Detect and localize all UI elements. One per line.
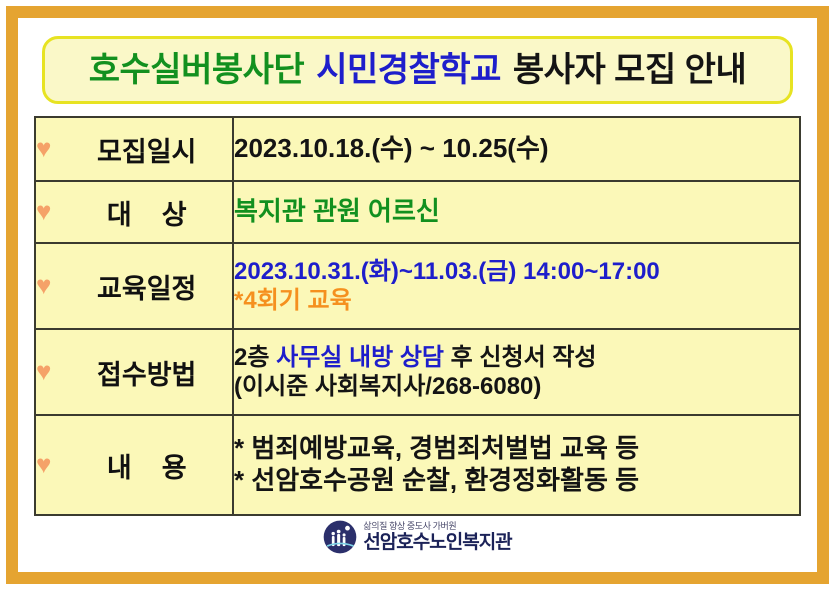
poster-root: 호수실버봉사단 시민경찰학교 봉사자 모집 안내 ♥ 모집일시 bbox=[0, 0, 835, 590]
row-label-cell-recruit-period: ♥ 모집일시 bbox=[35, 117, 233, 181]
label-inner: ♥ 내 용 bbox=[36, 446, 232, 485]
value-line: *4회기 교육 bbox=[234, 286, 799, 315]
info-table: ♥ 모집일시 2023.10.18.(수) ~ 10.25(수) bbox=[34, 116, 801, 516]
logo-tagline: 삶의질 향상 중도사 가버원 bbox=[363, 522, 456, 531]
value-line: * 선암호수공원 순찰, 환경정화활동 등 bbox=[234, 465, 799, 497]
heart-icon: ♥ bbox=[36, 198, 51, 224]
table-row: ♥ 대 상 복지관 관원 어르신 bbox=[35, 181, 800, 243]
value-part: 2023.10.18.(수) ~ 10.25(수) bbox=[234, 133, 549, 163]
logo-organization-name: 선암호수노인복지관 bbox=[363, 533, 511, 552]
label-inner: ♥ 접수방법 bbox=[36, 353, 232, 392]
row-label-text: 내 용 bbox=[61, 446, 232, 485]
value-line: 2023.10.18.(수) ~ 10.25(수) bbox=[234, 133, 799, 165]
label-inner: ♥ 모집일시 bbox=[36, 130, 232, 169]
row-label-cell-target: ♥ 대 상 bbox=[35, 181, 233, 243]
table-row: ♥ 접수방법 2층 사무실 내방 상담 후 신청서 작성 (이시준 사회복지사/… bbox=[35, 329, 800, 415]
row-value-cell-contents: * 범죄예방교육, 경범죄처벌법 교육 등 * 선암호수공원 순찰, 환경정화활… bbox=[233, 415, 800, 515]
value-line: 2층 사무실 내방 상담 후 신청서 작성 bbox=[234, 343, 799, 372]
row-label-text: 모집일시 bbox=[61, 130, 232, 169]
value-part: 사무실 내방 상담 bbox=[276, 344, 444, 371]
label-inner: ♥ 대 상 bbox=[36, 193, 232, 232]
row-label-cell-apply-method: ♥ 접수방법 bbox=[35, 329, 233, 415]
row-value-cell-recruit-period: 2023.10.18.(수) ~ 10.25(수) bbox=[233, 117, 800, 181]
value-part: * 선암호수공원 순찰, 환경정화활동 등 bbox=[234, 465, 639, 495]
value-line: 2023.10.31.(화)~11.03.(금) 14:00~17:00 bbox=[234, 257, 799, 286]
heart-icon: ♥ bbox=[36, 358, 51, 384]
value-part: * 범죄예방교육, 경범죄처벌법 교육 등 bbox=[234, 433, 639, 463]
row-value-cell-apply-method: 2층 사무실 내방 상담 후 신청서 작성 (이시준 사회복지사/268-608… bbox=[233, 329, 800, 415]
value-part: 2023.10.31.(화)~11.03.(금) 14:00~17:00 bbox=[234, 258, 660, 285]
poster-golden-frame: 호수실버봉사단 시민경찰학교 봉사자 모집 안내 ♥ 모집일시 bbox=[6, 6, 829, 584]
value-part: (이시준 사회복지사/268-6080) bbox=[234, 373, 541, 400]
heart-icon: ♥ bbox=[36, 135, 51, 161]
value-part: 복지관 관원 어르신 bbox=[234, 196, 440, 226]
row-label-text: 대 상 bbox=[61, 193, 232, 232]
organization-logo: 삶의질 향상 중도사 가버원 선암호수노인복지관 bbox=[323, 520, 511, 554]
value-line: * 범죄예방교육, 경범죄처벌법 교육 등 bbox=[234, 433, 799, 465]
table-row: ♥ 내 용 * 범죄예방교육, 경범죄처벌법 교육 등 * 선암호수공원 순찰,… bbox=[35, 415, 800, 515]
heart-icon: ♥ bbox=[36, 272, 51, 298]
title-segment-subject: 봉사자 모집 안내 bbox=[513, 53, 746, 87]
poster-footer: 삶의질 향상 중도사 가버원 선암호수노인복지관 bbox=[34, 516, 801, 562]
value-part: *4회기 교육 bbox=[234, 287, 352, 314]
value-part: 2층 bbox=[234, 344, 276, 371]
row-label-text: 교육일정 bbox=[61, 267, 232, 306]
heart-icon: ♥ bbox=[36, 451, 51, 477]
row-value-cell-schedule: 2023.10.31.(화)~11.03.(금) 14:00~17:00 *4회… bbox=[233, 243, 800, 329]
value-part: 후 신청서 작성 bbox=[444, 344, 596, 371]
value-line: (이시준 사회복지사/268-6080) bbox=[234, 372, 799, 401]
value-line: 복지관 관원 어르신 bbox=[234, 196, 799, 228]
poster-title-banner: 호수실버봉사단 시민경찰학교 봉사자 모집 안내 bbox=[42, 36, 793, 104]
label-inner: ♥ 교육일정 bbox=[36, 267, 232, 306]
poster-content: 호수실버봉사단 시민경찰학교 봉사자 모집 안내 ♥ 모집일시 bbox=[18, 18, 817, 572]
row-label-text: 접수방법 bbox=[61, 353, 232, 392]
row-label-cell-contents: ♥ 내 용 bbox=[35, 415, 233, 515]
title-segment-organization: 호수실버봉사단 bbox=[89, 53, 304, 87]
table-row: ♥ 교육일정 2023.10.31.(화)~11.03.(금) 14:00~17… bbox=[35, 243, 800, 329]
welfare-center-logo-icon bbox=[323, 520, 357, 554]
logo-text-block: 삶의질 향상 중도사 가버원 선암호수노인복지관 bbox=[363, 522, 511, 552]
title-segment-program: 시민경찰학교 bbox=[316, 53, 501, 87]
row-label-cell-schedule: ♥ 교육일정 bbox=[35, 243, 233, 329]
table-row: ♥ 모집일시 2023.10.18.(수) ~ 10.25(수) bbox=[35, 117, 800, 181]
row-value-cell-target: 복지관 관원 어르신 bbox=[233, 181, 800, 243]
